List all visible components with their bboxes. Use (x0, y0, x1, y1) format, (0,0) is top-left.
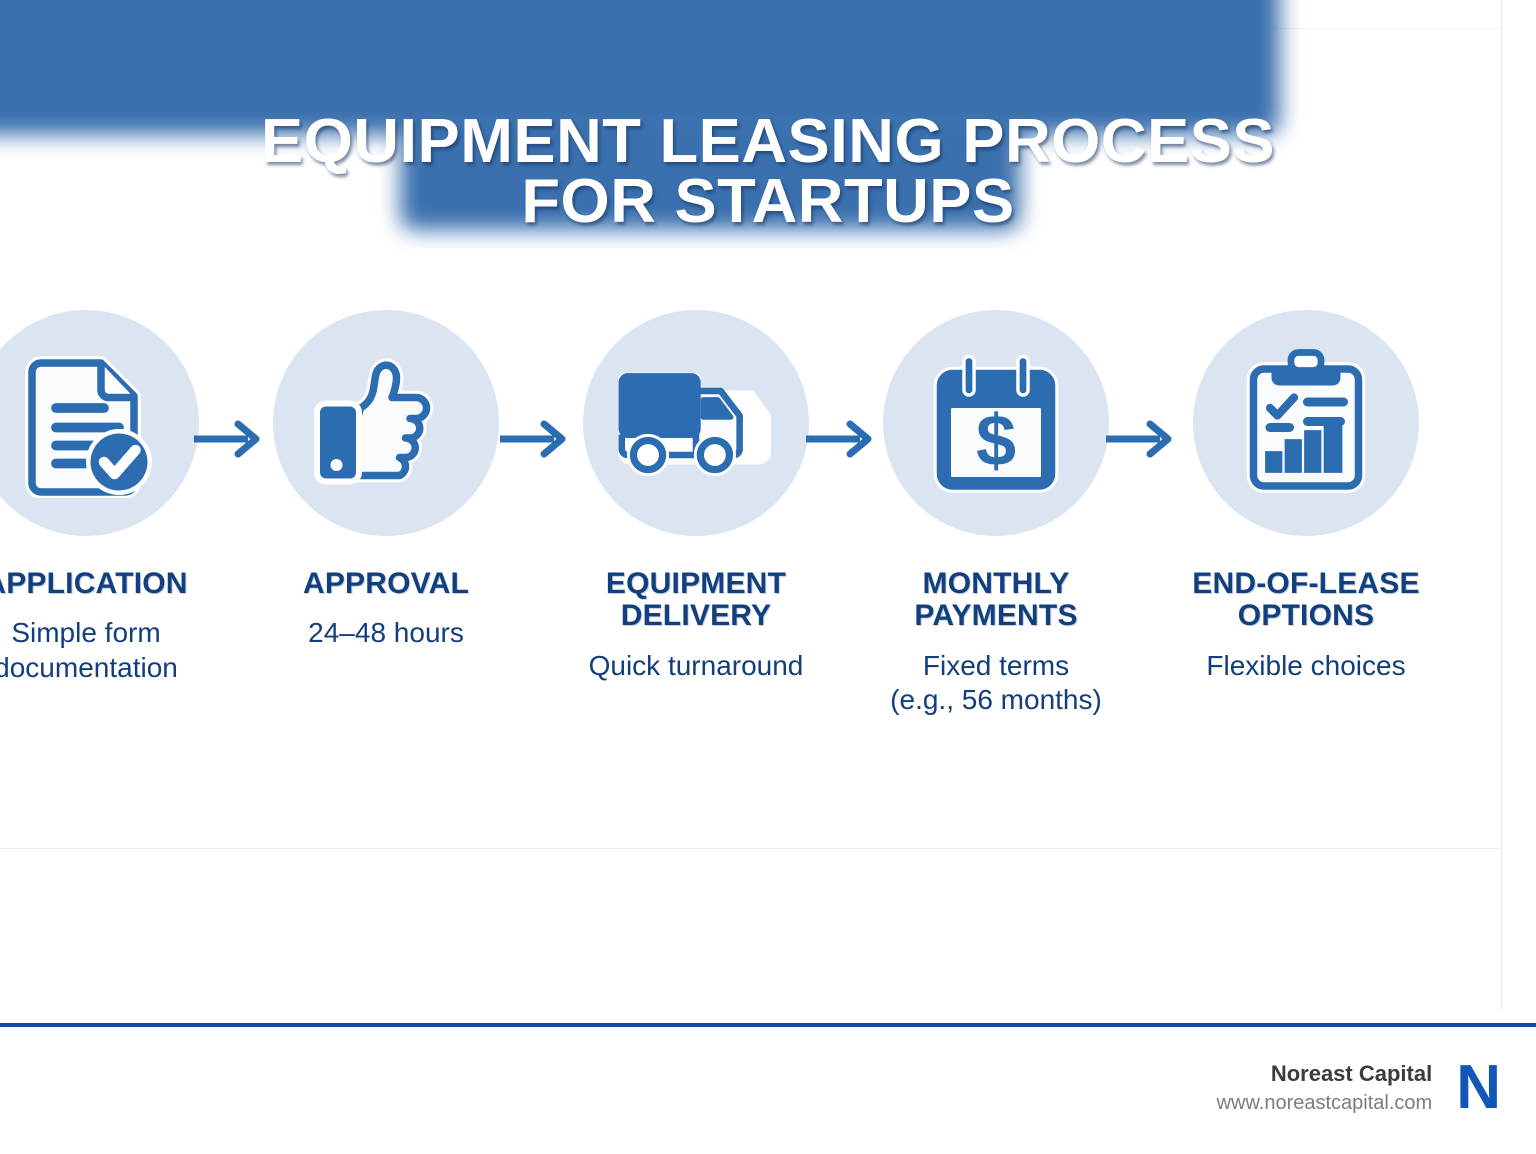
page-title-line-1: EQUIPMENT LEASING PROCESS (261, 107, 1275, 176)
svg-text:$: $ (976, 401, 1016, 481)
arrow-step-1-to-2 (194, 418, 264, 460)
step-desc-application: Simple form documentation (0, 616, 236, 684)
icon-circle-approval (273, 310, 499, 536)
process-step-application: APPLICATION Simple form documentation (0, 300, 236, 685)
process-step-equipment-delivery: EQUIPMENT DELIVERY Quick turnaround (546, 300, 846, 683)
brand-logo-icon: N (1456, 1062, 1500, 1115)
process-step-end-of-lease-options: END-OF-LEASE OPTIONS Flexible choices (1156, 300, 1456, 683)
slide-canvas: EQUIPMENT LEASING PROCESS FOR STARTUPS (0, 0, 1536, 1154)
arrow-step-2-to-3 (500, 418, 570, 460)
icon-circle-end-of-lease-options (1193, 310, 1419, 536)
delivery-truck-icon (616, 358, 776, 488)
arrow-step-4-to-5 (1106, 418, 1176, 460)
arrow-step-3-to-4 (806, 418, 876, 460)
brand-url[interactable]: www.noreastcapital.com (1217, 1090, 1433, 1117)
step-desc-monthly-payments: Fixed terms (e.g., 56 months) (846, 649, 1146, 717)
step-desc-end-of-lease-options: Flexible choices (1156, 649, 1456, 683)
thumbs-up-icon (311, 348, 461, 498)
page-title-line-2: FOR STARTUPS (0, 172, 1536, 232)
step-desc-approval: 24–48 hours (236, 616, 536, 650)
page-title: EQUIPMENT LEASING PROCESS FOR STARTUPS (0, 52, 1536, 293)
icon-circle-application (0, 310, 199, 536)
step-title-equipment-delivery: EQUIPMENT DELIVERY (546, 568, 846, 633)
icon-circle-monthly-payments: $ (883, 310, 1109, 536)
section-divider (0, 848, 1502, 849)
process-step-approval: APPROVAL 24–48 hours (236, 300, 536, 651)
footer-brand-block: Noreast Capital www.noreastcapital.com (1217, 1060, 1433, 1117)
calendar-dollar-icon: $ (921, 348, 1071, 498)
process-step-monthly-payments: $ MONTHLY PAYMENTS Fixed terms (e.g., 56… (846, 300, 1146, 717)
step-title-application: APPLICATION (0, 568, 236, 600)
step-desc-equipment-delivery: Quick turnaround (546, 649, 846, 683)
icon-circle-equipment-delivery (583, 310, 809, 536)
document-check-icon (11, 348, 161, 498)
brand-name: Noreast Capital (1217, 1060, 1433, 1088)
step-title-end-of-lease-options: END-OF-LEASE OPTIONS (1156, 568, 1456, 633)
process-steps: APPLICATION Simple form documentation AP… (0, 300, 1536, 840)
step-title-approval: APPROVAL (236, 568, 536, 600)
step-title-monthly-payments: MONTHLY PAYMENTS (846, 568, 1146, 633)
footer: Noreast Capital www.noreastcapital.com N (0, 1027, 1536, 1154)
clipboard-chart-icon (1236, 348, 1376, 498)
